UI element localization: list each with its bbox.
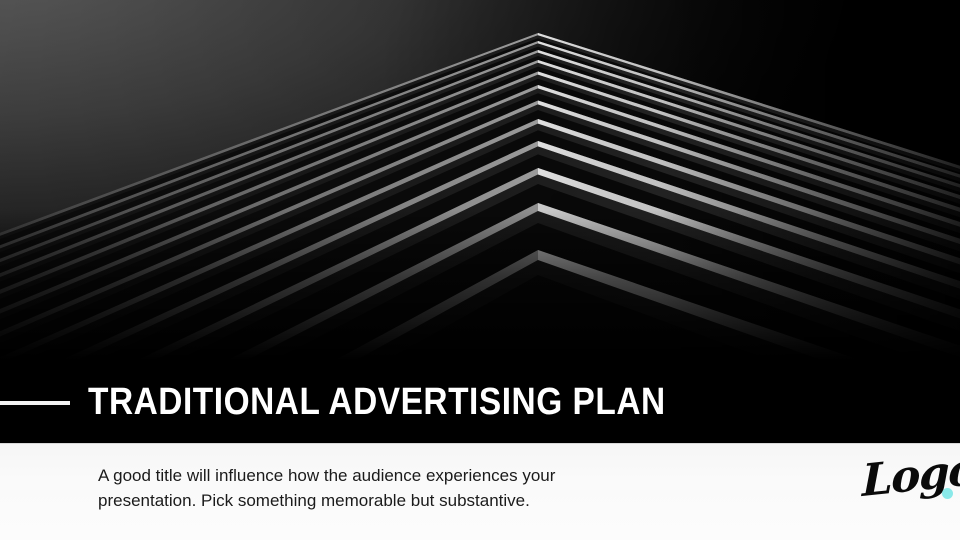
- hero-image: [0, 0, 960, 360]
- presentation-slide: TRADITIONAL ADVERTISING PLAN A good titl…: [0, 0, 960, 540]
- footer-bar: A good title will influence how the audi…: [0, 443, 960, 540]
- footer-divider: [0, 443, 960, 444]
- building-corner-illustration: [0, 0, 960, 360]
- logo-accent-dot: [942, 488, 953, 499]
- title-accent-rule: [0, 401, 70, 405]
- title-band: TRADITIONAL ADVERTISING PLAN: [0, 360, 960, 443]
- slide-subtitle: A good title will influence how the audi…: [98, 463, 658, 513]
- page-title: TRADITIONAL ADVERTISING PLAN: [88, 380, 666, 424]
- logo[interactable]: Logo: [862, 450, 954, 522]
